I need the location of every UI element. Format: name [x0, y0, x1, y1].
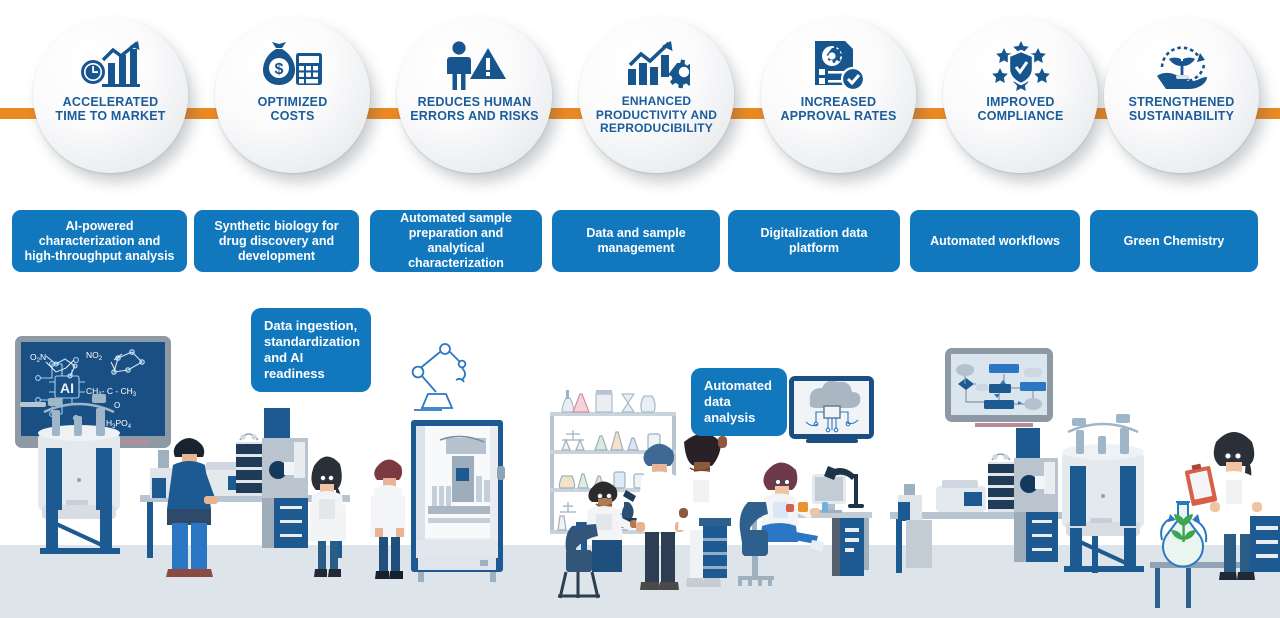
female-scientist-standing — [308, 456, 346, 577]
robotic-arm-icon — [413, 344, 466, 410]
green-chemistry-flask — [1161, 502, 1206, 567]
capability-pill-data-and-sample-management[interactable]: Data and sample management — [552, 210, 720, 272]
benefit-label: ACCELERATED TIME TO MARKET — [41, 95, 181, 123]
cabinet-right — [1250, 516, 1280, 572]
capability-pill-ai-powered-characterization[interactable]: AI-powered characterization and high-thr… — [12, 210, 187, 272]
benefit-label: INCREASED APPROVAL RATES — [769, 95, 909, 123]
clock-bar-chart-growth-icon — [78, 40, 144, 92]
two-scientists-discussing — [636, 433, 731, 590]
capability-pill-automated-sample-preparation[interactable]: Automated sample preparation and analyti… — [370, 210, 542, 272]
mass-spectrometer — [262, 408, 308, 548]
laboratory-illustration: AI O2N NO2 CH3- C - CH3 O H3PO4 — [0, 290, 1280, 618]
benefit-label: ENHANCED PRODUCTIVITY AND REPRODUCIBILIT… — [587, 95, 727, 136]
benefits-row: ACCELERATED TIME TO MARKET $ — [0, 18, 1280, 193]
bar-chart-gear-icon — [624, 40, 690, 92]
scientist-observing-cabinet — [370, 459, 406, 579]
capability-pill-automated-workflows[interactable]: Automated workflows — [910, 210, 1080, 272]
automated-sample-prep-cabinet — [411, 420, 505, 582]
scientist-at-instrument-bench — [140, 408, 350, 577]
callout-automated-data-analysis[interactable]: Automated data analysis — [691, 368, 787, 436]
benefit-label: REDUCES HUMAN ERRORS AND RISKS — [405, 95, 545, 123]
document-gear-checkmark-icon — [811, 40, 867, 92]
monitor — [812, 474, 846, 513]
svg-text:$: $ — [274, 61, 283, 78]
benefit-label: IMPROVED COMPLIANCE — [951, 95, 1091, 123]
cloud-computing-screen — [789, 376, 874, 443]
benefit-circle-optimized-costs[interactable]: $ OPTIMIZED COSTS — [215, 18, 370, 173]
mass-spectrometer-right — [1014, 428, 1058, 562]
person-warning-triangle-icon — [444, 40, 506, 92]
nmr-spectrometer-right — [1062, 414, 1144, 572]
clipboard — [1185, 464, 1218, 507]
scientist-back-view — [166, 438, 218, 577]
infographic-canvas: ACCELERATED TIME TO MARKET $ — [0, 0, 1280, 618]
hplc-stack-right — [988, 454, 1014, 512]
scientist-at-desk-computer — [738, 462, 872, 586]
hplc-stack — [236, 434, 262, 496]
benefit-circle-improved-compliance[interactable]: IMPROVED COMPLIANCE — [943, 18, 1098, 173]
money-bag-calculator-icon: $ — [263, 40, 323, 92]
stool — [699, 518, 731, 578]
capabilities-row: AI-powered characterization and high-thr… — [0, 210, 1280, 272]
cabinet-mid-right — [906, 520, 932, 568]
benefit-label: STRENGTHENED SUSTAINABILITY — [1112, 95, 1252, 123]
benefit-circle-enhanced-productivity[interactable]: ENHANCED PRODUCTIVITY AND REPRODUCIBILIT… — [579, 18, 734, 173]
benefit-circle-increased-approval-rates[interactable]: INCREASED APPROVAL RATES — [761, 18, 916, 173]
benefit-circle-reduces-human-errors[interactable]: REDUCES HUMAN ERRORS AND RISKS — [397, 18, 552, 173]
capability-pill-digitalization-data-platform[interactable]: Digitalization data platform — [728, 210, 900, 272]
workflow-diagram-screen — [945, 348, 1053, 427]
svg-text:AI: AI — [60, 380, 74, 396]
shield-stars-icon — [992, 40, 1050, 92]
callout-data-ingestion[interactable]: Data ingestion, standardization and AI r… — [251, 308, 371, 392]
hand-plant-recycle-icon — [1152, 40, 1212, 92]
benefit-circle-accelerated-time-to-market[interactable]: ACCELERATED TIME TO MARKET — [33, 18, 188, 173]
svg-text:O: O — [114, 401, 120, 410]
capability-pill-synthetic-biology[interactable]: Synthetic biology for drug discovery and… — [194, 210, 359, 272]
benefit-label: OPTIMIZED COSTS — [223, 95, 363, 123]
capability-pill-green-chemistry[interactable]: Green Chemistry — [1090, 210, 1258, 272]
scientist-back-white-coat — [636, 444, 684, 590]
benefit-circle-strengthened-sustainability[interactable]: STRENGTHENED SUSTAINABILITY — [1104, 18, 1259, 173]
